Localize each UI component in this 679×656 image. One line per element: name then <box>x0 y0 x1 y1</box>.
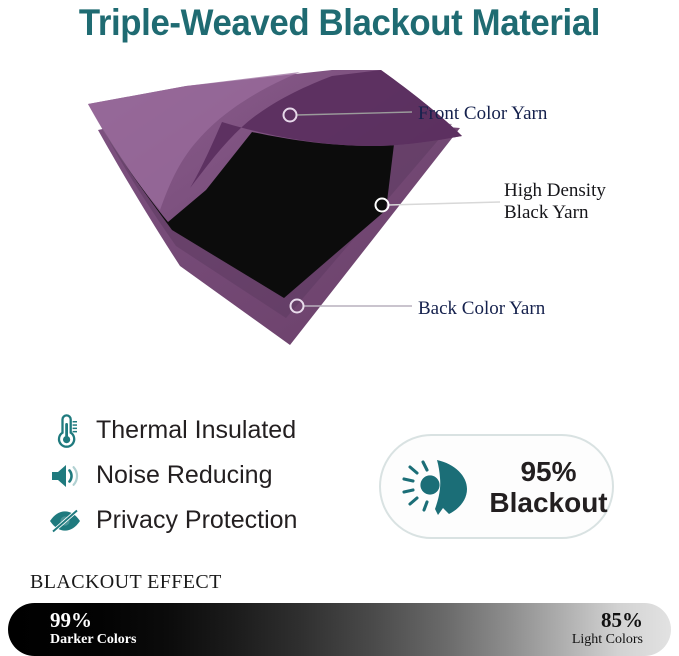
gradient-right-labels: 85% Light Colors <box>572 609 643 648</box>
thermometer-icon <box>44 410 86 452</box>
speaker-icon <box>44 455 86 497</box>
eye-slash-icon <box>44 500 86 542</box>
callout-label-back: Back Color Yarn <box>418 298 545 320</box>
feature-label: Noise Reducing <box>96 461 273 490</box>
badge-percent: 95% <box>485 456 612 487</box>
product-infographic: Triple-Weaved Blackout Material <box>0 0 679 656</box>
callout-label-black-yarn: High Density Black Yarn <box>504 180 606 224</box>
badge-word: Blackout <box>485 487 612 518</box>
badge-text: 95% Blackout <box>485 456 612 518</box>
blackout-effect-gradient-bar: 99% Darker Colors 85% Light Colors <box>8 603 671 656</box>
feature-noise-reducing: Noise Reducing <box>44 453 374 498</box>
callout-black-line1: High Density <box>504 180 606 201</box>
callout-black-line2: Black Yarn <box>504 202 588 223</box>
gradient-left-caption: Darker Colors <box>50 631 136 648</box>
gradient-right-percent: 85% <box>572 609 643 631</box>
blackout-effect-heading: BLACKOUT EFFECT <box>30 571 222 594</box>
feature-label: Privacy Protection <box>96 506 297 535</box>
blackout-badge: 95% Blackout <box>379 434 614 539</box>
callout-label-front: Front Color Yarn <box>418 103 547 125</box>
feature-thermal-insulated: Thermal Insulated <box>44 408 374 453</box>
page-title: Triple-Weaved Blackout Material <box>20 2 658 44</box>
feature-privacy-protection: Privacy Protection <box>44 498 374 543</box>
sun-behind-curtain-icon <box>397 452 479 522</box>
feature-list: Thermal Insulated Noise Reducing <box>44 408 374 543</box>
feature-label: Thermal Insulated <box>96 416 296 445</box>
gradient-left-percent: 99% <box>50 609 136 631</box>
gradient-left-labels: 99% Darker Colors <box>50 609 136 648</box>
gradient-right-caption: Light Colors <box>572 631 643 648</box>
